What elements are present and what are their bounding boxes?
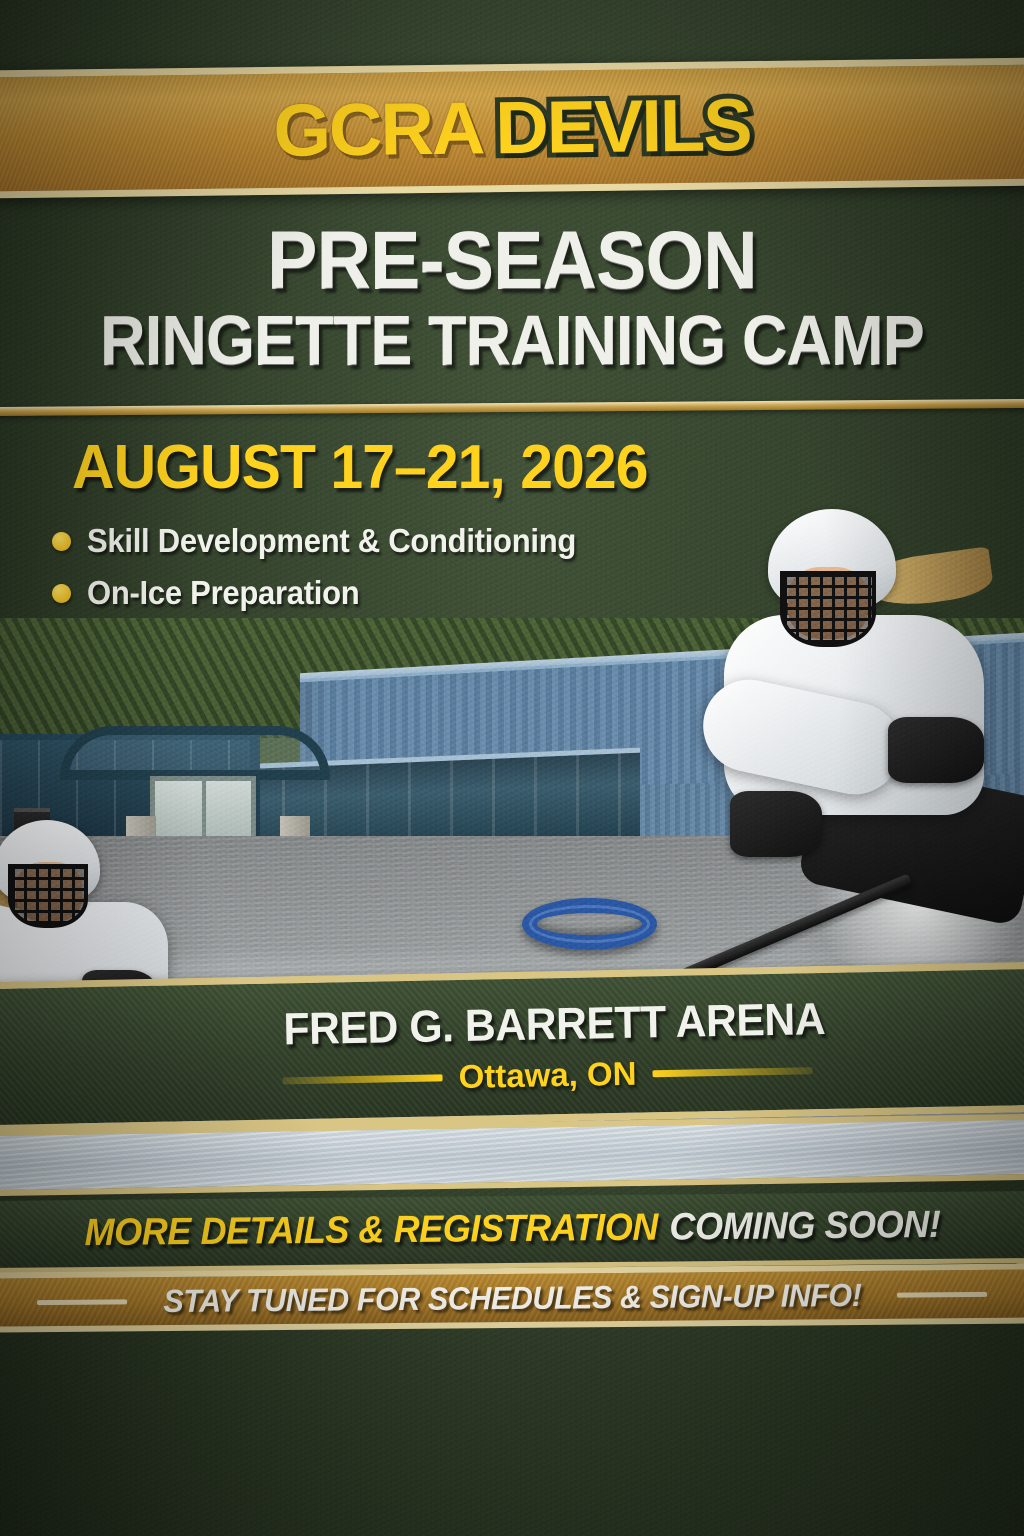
bullet-dot-icon: [52, 532, 71, 551]
feature-label: Skill Development & Conditioning: [87, 522, 576, 560]
team-title: GCRADEVILS: [273, 88, 751, 168]
blue-ringette-ring: [522, 898, 657, 950]
venue-city: Ottawa, ON: [458, 1055, 637, 1096]
player-face-cage: [780, 571, 876, 647]
list-item: Skill Development & Conditioning: [52, 522, 692, 560]
venue-banner: FRED G. BARRETT ARENA Ottawa, ON: [0, 962, 1024, 1132]
rule-left: [283, 1074, 443, 1084]
feature-label: On-Ice Preparation: [87, 574, 359, 612]
gold-divider: [0, 399, 1024, 416]
title-line-2: RINGETTE TRAINING CAMP: [51, 304, 973, 378]
dash-left: [37, 1299, 127, 1305]
event-dates: AUGUST 17–21, 2026: [72, 432, 648, 503]
poster-canvas: GCRADEVILS PRE-SEASON RINGETTE TRAINING …: [0, 0, 1024, 1536]
rule-right: [652, 1067, 812, 1077]
cta-banner-secondary: STAY TUNED FOR SCHEDULES & SIGN-UP INFO!: [0, 1263, 1024, 1332]
dash-right: [897, 1291, 987, 1297]
player-face-cage: [8, 864, 88, 928]
cta-highlight: MORE DETAILS & REGISTRATION: [84, 1207, 658, 1255]
ringette-player-skating: [640, 495, 1024, 965]
cta-subline: STAY TUNED FOR SCHEDULES & SIGN-UP INFO!: [163, 1276, 861, 1319]
title-line-1: PRE-SEASON: [41, 222, 983, 300]
cta-primary-text: MORE DETAILS & REGISTRATIONCOMING SOON!: [84, 1204, 940, 1255]
feature-list: Skill Development & Conditioning On-Ice …: [52, 522, 692, 626]
team-banner: GCRADEVILS: [0, 58, 1024, 199]
team-name-primary: GCRA: [273, 86, 484, 172]
venue-content: FRED G. BARRETT ARENA Ottawa, ON: [0, 969, 1024, 1125]
list-item: On-Ice Preparation: [52, 574, 692, 612]
player-glove-upper: [888, 717, 984, 783]
cta-banner-primary: MORE DETAILS & REGISTRATIONCOMING SOON!: [0, 1191, 1024, 1273]
page-title: PRE-SEASON RINGETTE TRAINING CAMP: [0, 222, 1024, 377]
cta-emphasis: COMING SOON!: [669, 1204, 940, 1249]
team-name-secondary: DEVILS: [495, 83, 751, 169]
bullet-dot-icon: [52, 584, 71, 603]
player-glove-lower: [730, 791, 822, 857]
